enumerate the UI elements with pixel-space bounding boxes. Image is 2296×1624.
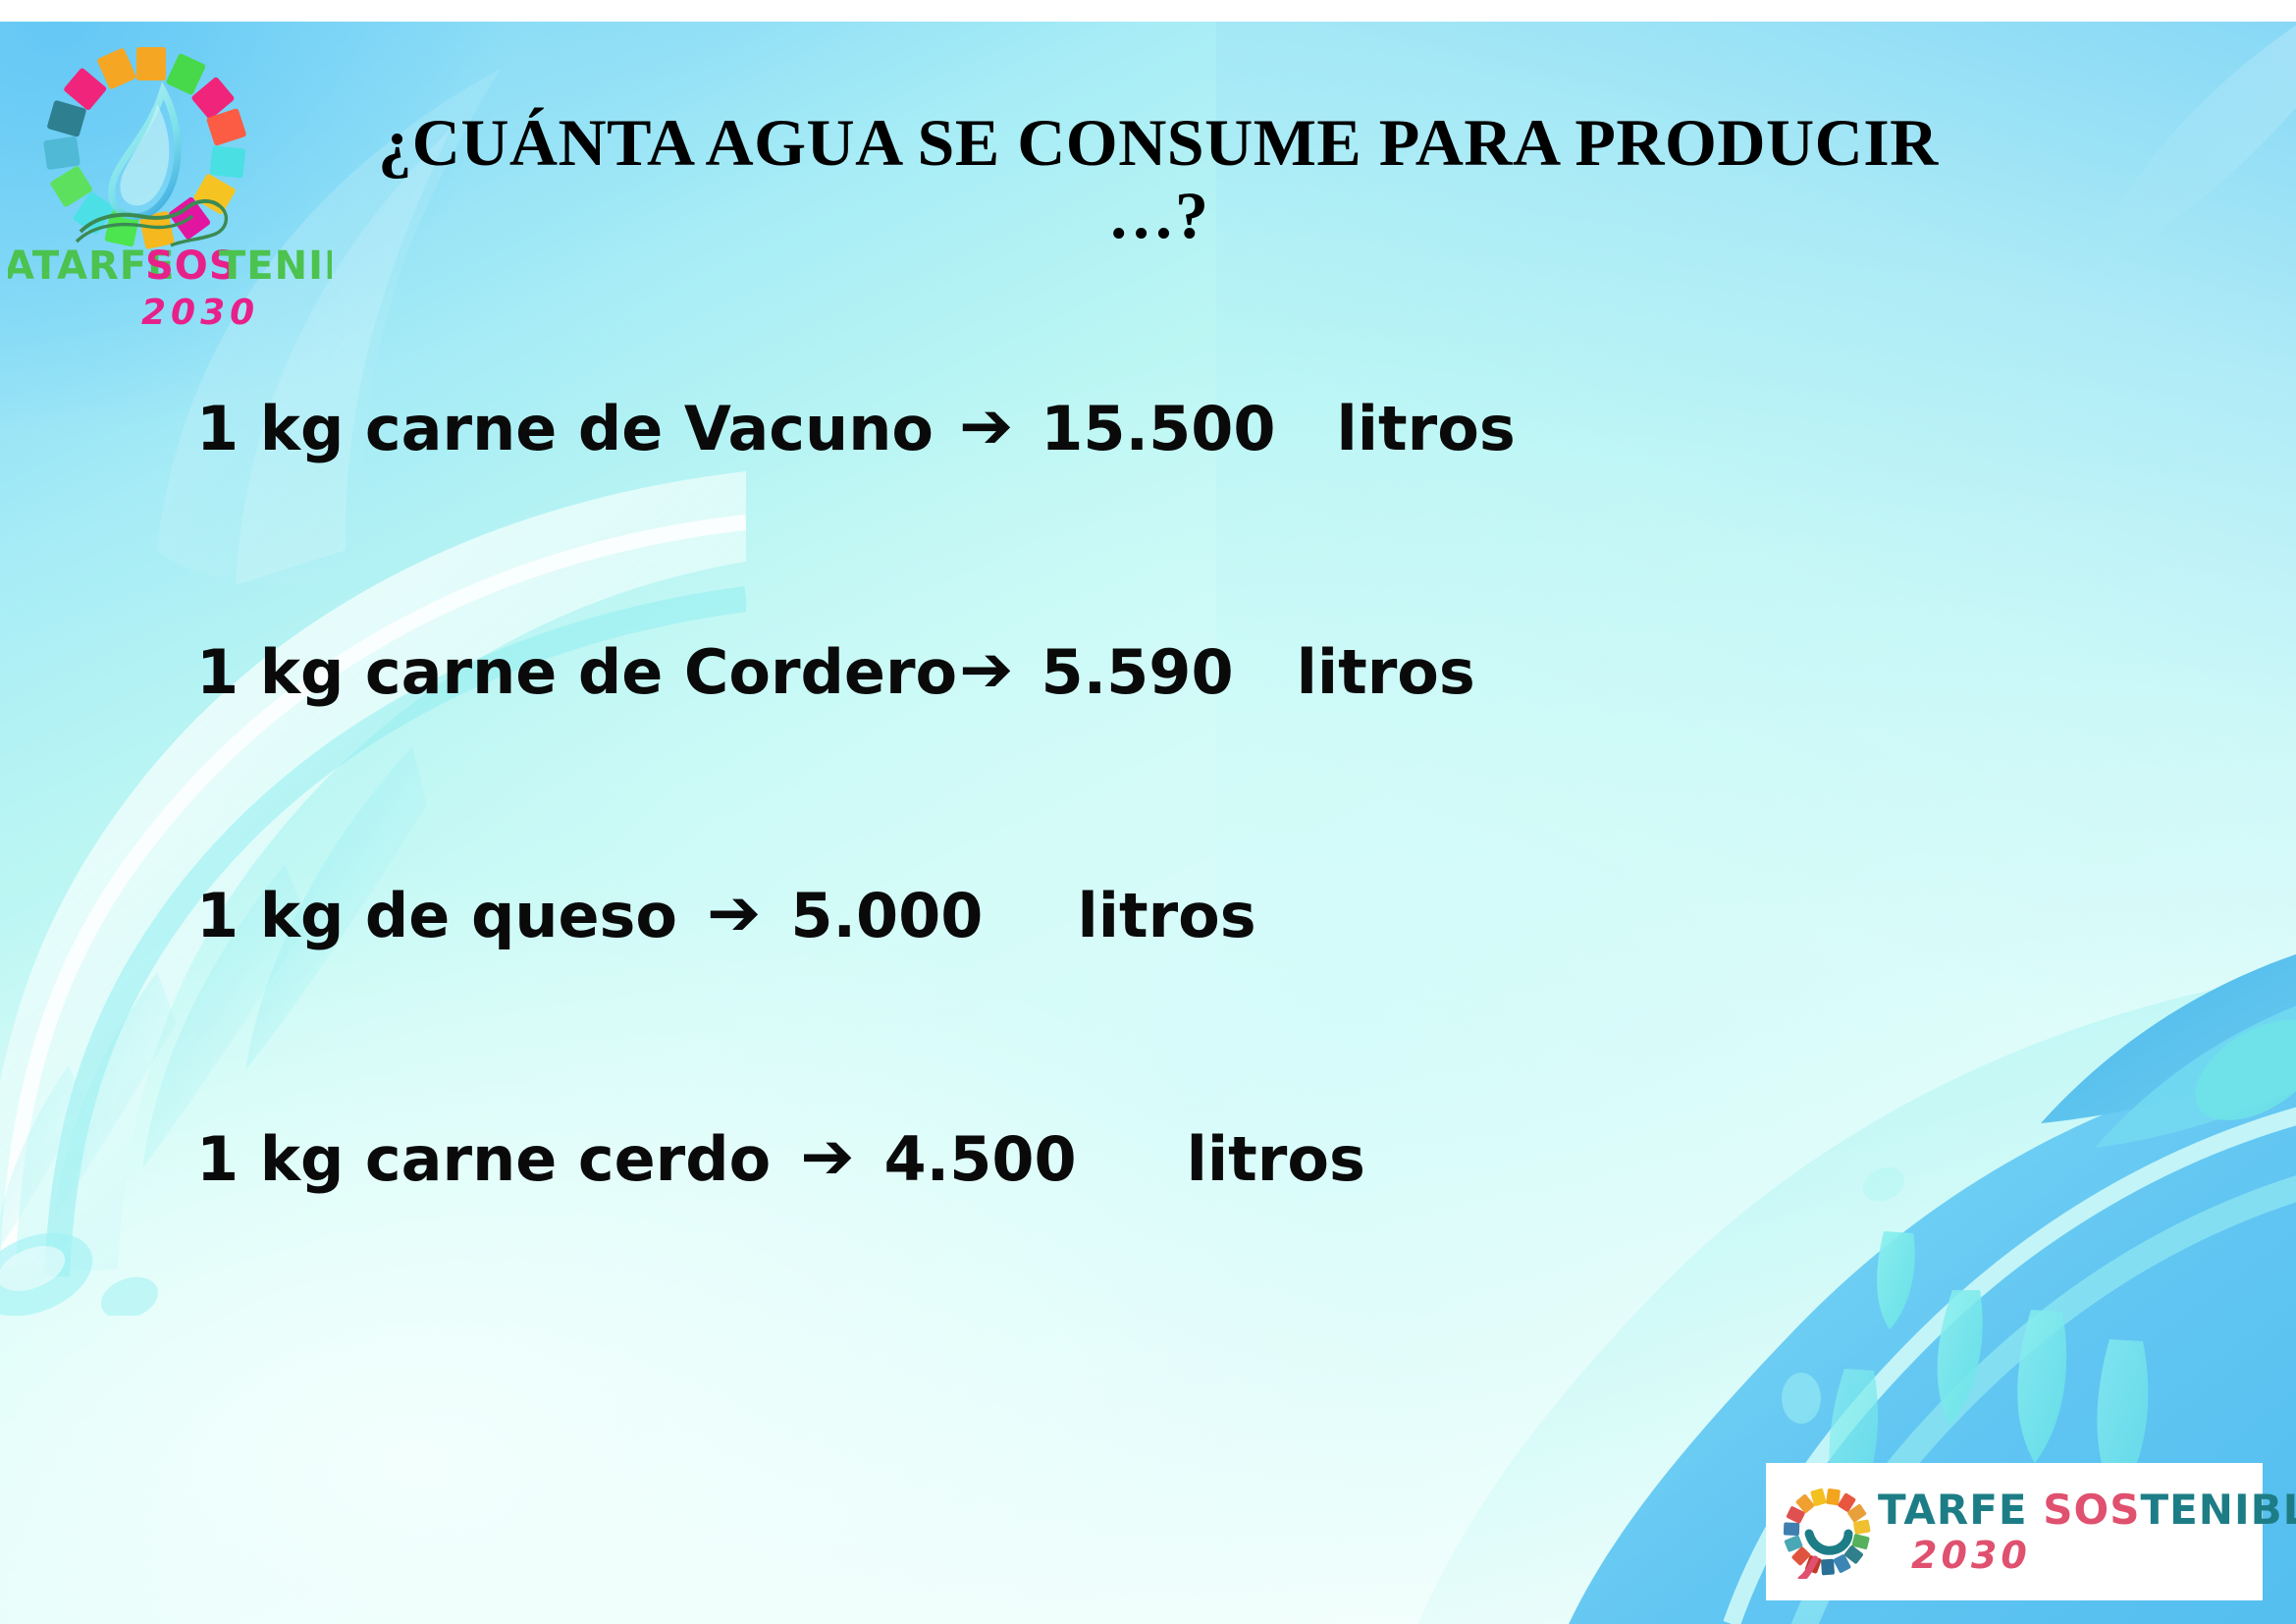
logo-br-word-tenible: TENIBLE: [2140, 1486, 2296, 1534]
right-arrow-icon: ➔: [959, 637, 1013, 702]
presentation-slide: ATARFE SOS TENIBLE 2030 ¿CUÁNTA AGUA SE …: [0, 0, 2296, 1624]
water-footprint-list: 1 kg carne de Vacuno ➔ 15.500 litros 1 k…: [0, 393, 2296, 1276]
right-arrow-icon: ➔: [800, 1124, 854, 1189]
item-label: 1 kg carne de Vacuno: [196, 393, 934, 464]
right-arrow-icon: ➔: [707, 881, 761, 946]
logo-bottomright-wordmark: TARFE SOSTENIBLE 2030: [1878, 1489, 2296, 1574]
sdg-ring-a-icon: [1780, 1485, 1874, 1579]
top-white-margin: [0, 0, 2296, 22]
slide-title: ¿CUÁNTA AGUA SE CONSUME PARA PRODUCIR …?: [245, 106, 2071, 251]
list-item: 1 kg de queso ➔ 5.000 litros: [196, 880, 1256, 951]
logo-topleft-year: 2030: [141, 293, 259, 333]
item-unit: litros: [1187, 1123, 1365, 1195]
list-item: 1 kg carne de Cordero ➔ 5.590 litros: [196, 636, 1475, 708]
logo-br-year: 2030: [1911, 1537, 2296, 1574]
item-unit: litros: [1077, 880, 1255, 951]
sdg-ring-water-drop-icon: [37, 39, 253, 255]
item-value: 5.000: [790, 880, 983, 951]
logo-br-word-sos: SOS: [2043, 1486, 2140, 1534]
item-unit: litros: [1297, 636, 1475, 708]
logo-br-word-tarfe: TARFE: [1878, 1486, 2028, 1534]
item-label: 1 kg carne cerdo: [196, 1123, 771, 1195]
slide-title-line-1: ¿CUÁNTA AGUA SE CONSUME PARA PRODUCIR: [245, 106, 2071, 179]
item-value: 4.500: [884, 1123, 1077, 1195]
slide-title-line-2: …?: [245, 179, 2071, 251]
item-value: 5.590: [1041, 636, 1233, 708]
logo-atarfe-sostenible-bottomright: TARFE SOSTENIBLE 2030: [1766, 1463, 2263, 1600]
list-item: 1 kg carne de Vacuno ➔ 15.500 litros: [196, 393, 1516, 464]
right-arrow-icon: ➔: [959, 394, 1013, 459]
item-value: 15.500: [1041, 393, 1275, 464]
item-label: 1 kg carne de Cordero: [196, 636, 957, 708]
item-label: 1 kg de queso: [196, 880, 677, 951]
logo-topleft-wordmark: ATARFE SOS TENIBLE 2030: [8, 234, 332, 361]
list-item: 1 kg carne cerdo ➔ 4.500 litros: [196, 1123, 1365, 1195]
item-unit: litros: [1337, 393, 1516, 464]
